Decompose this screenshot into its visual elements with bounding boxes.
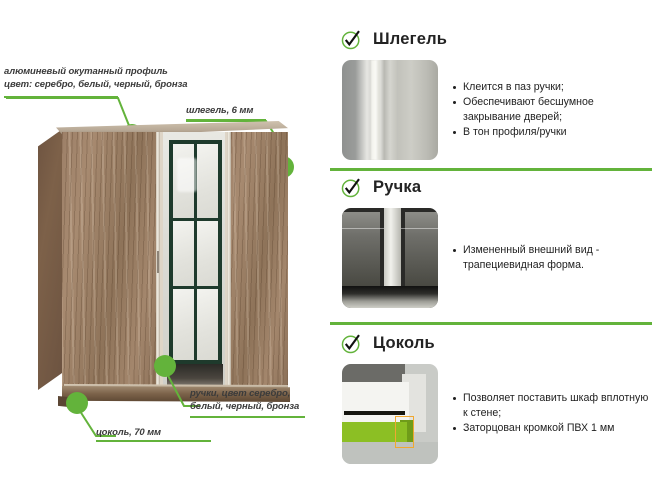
shlegel-photo xyxy=(342,60,438,160)
wardrobe-side-panel xyxy=(38,128,64,390)
mirror-highlight xyxy=(177,158,197,192)
door-seam-left xyxy=(160,132,163,390)
handle-photo-panel-right xyxy=(405,212,438,290)
feature-section-handle: Ручка Измененный внешний вид - трапециев… xyxy=(330,176,652,308)
feature-section-plinth: Цоколь Позволяет поставить шкаф вплотную… xyxy=(330,332,652,464)
handle-photo xyxy=(342,208,438,308)
callout-profile-label: алюминевый окутанный профиль цвет: сереб… xyxy=(4,66,194,91)
callout-plinth-label: цоколь, 70 мм xyxy=(96,427,236,440)
feature-body: Позволяет поставить шкаф вплотную к стен… xyxy=(330,364,652,464)
callout-handles-underline xyxy=(190,416,305,418)
mirror-pane xyxy=(197,144,218,218)
wardrobe-handle-right xyxy=(227,132,231,390)
feature-bullet-list: Измененный внешний вид - трапециевидная … xyxy=(452,243,652,273)
mirror-pane xyxy=(197,221,218,286)
section-divider xyxy=(330,322,652,325)
feature-body: Клеится в паз ручки; Обеспечивают бесшум… xyxy=(330,60,652,160)
feature-title: Цоколь xyxy=(373,334,435,353)
feature-bullet: В тон профиля/ручки xyxy=(452,125,652,139)
feature-section-shlegel: Шлегель Клеится в паз ручки; Обеспечиваю… xyxy=(330,28,652,160)
feature-bullet-list: Клеится в паз ручки; Обеспечивают бесшум… xyxy=(452,80,652,141)
handle-photo-rail xyxy=(342,286,438,308)
wardrobe-door-mirror xyxy=(163,132,225,390)
mirror-pane xyxy=(197,289,218,360)
features-pane: Шлегель Клеится в паз ручки; Обеспечиваю… xyxy=(330,0,652,500)
mirror-pane xyxy=(173,289,194,360)
check-circle-icon xyxy=(340,176,363,199)
feature-bullet: Заторцован кромкой ПВХ 1 мм xyxy=(452,421,652,435)
feature-bullet: Обеспечивают бесшумное закрывание дверей… xyxy=(452,95,652,124)
section-divider xyxy=(330,168,652,171)
feature-title: Ручка xyxy=(373,178,421,197)
handle-grip xyxy=(157,251,159,273)
wardrobe-handle-left xyxy=(156,132,160,390)
plinth-photo-floor xyxy=(342,442,438,464)
check-circle-icon xyxy=(340,28,363,51)
product-illustration-pane: алюминевый окутанный профиль цвет: сереб… xyxy=(0,0,330,500)
feature-bullet: Клеится в паз ручки; xyxy=(452,80,652,94)
plinth-photo xyxy=(342,364,438,464)
plinth-photo-annotation xyxy=(395,416,414,448)
check-circle-icon xyxy=(340,332,363,355)
feature-body: Измененный внешний вид - трапециевидная … xyxy=(330,208,652,308)
feature-header: Шлегель xyxy=(330,28,652,51)
wardrobe-door-left xyxy=(62,132,160,390)
plinth-photo-slot xyxy=(344,411,405,415)
wardrobe-door-right xyxy=(226,132,288,390)
feature-bullet: Измененный внешний вид - трапециевидная … xyxy=(452,243,652,272)
product-feature-slide: алюминевый окутанный профиль цвет: сереб… xyxy=(0,0,652,500)
feature-bullet: Позволяет поставить шкаф вплотную к стен… xyxy=(452,391,652,420)
wardrobe-front xyxy=(62,132,288,390)
feature-bullet-list: Позволяет поставить шкаф вплотную к стен… xyxy=(452,391,652,436)
callout-handles-label: ручки, цвет серебро, белый, черный, брон… xyxy=(190,388,320,413)
mirror-pane xyxy=(173,221,194,286)
handle-photo-panel-left xyxy=(342,212,380,290)
feature-title: Шлегель xyxy=(373,30,447,49)
feature-header: Цоколь xyxy=(330,332,652,355)
callout-plinth-underline xyxy=(96,440,211,442)
feature-header: Ручка xyxy=(330,176,652,199)
